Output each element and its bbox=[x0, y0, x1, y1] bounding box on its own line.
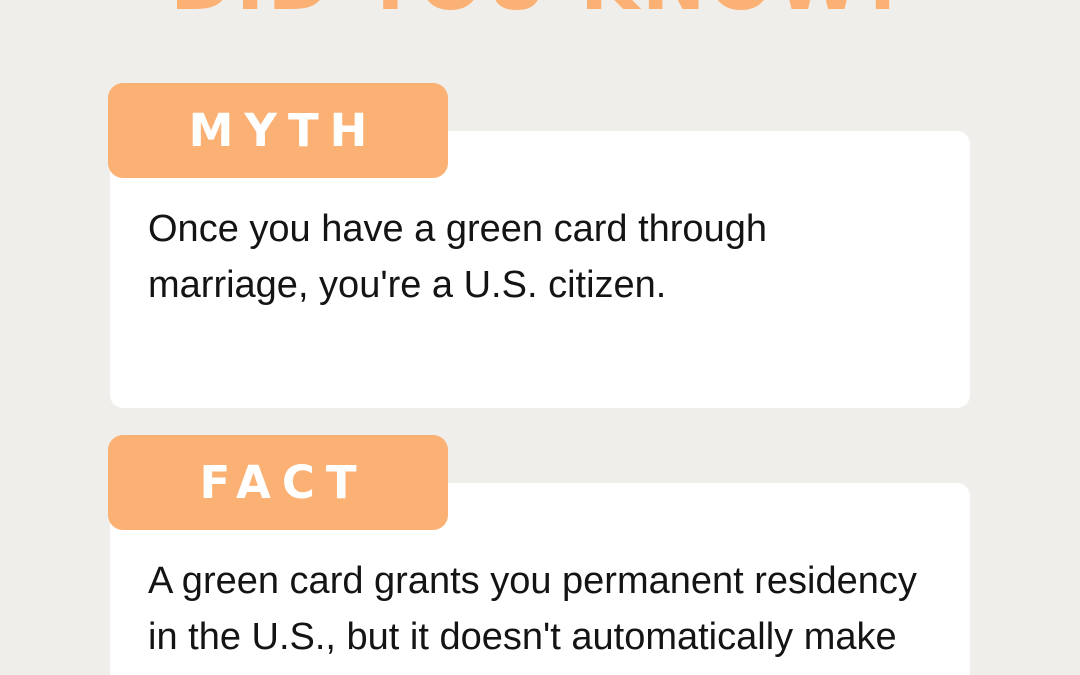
myth-body-text: Once you have a green card through marri… bbox=[148, 201, 928, 313]
page-title-container: DID YOU KNOW? bbox=[0, 0, 1080, 28]
myth-badge: MYTH bbox=[108, 83, 448, 178]
myth-card-body: Once you have a green card through marri… bbox=[148, 201, 928, 313]
fact-card-body: A green card grants you permanent reside… bbox=[148, 553, 928, 675]
infographic-canvas: DID YOU KNOW? MYTH Once you have a green… bbox=[0, 0, 1080, 675]
fact-badge-label: FACT bbox=[188, 460, 367, 505]
myth-badge-label: MYTH bbox=[178, 108, 379, 153]
fact-body-text: A green card grants you permanent reside… bbox=[148, 553, 928, 675]
page-title: DID YOU KNOW? bbox=[0, 0, 1080, 28]
fact-badge: FACT bbox=[108, 435, 448, 530]
